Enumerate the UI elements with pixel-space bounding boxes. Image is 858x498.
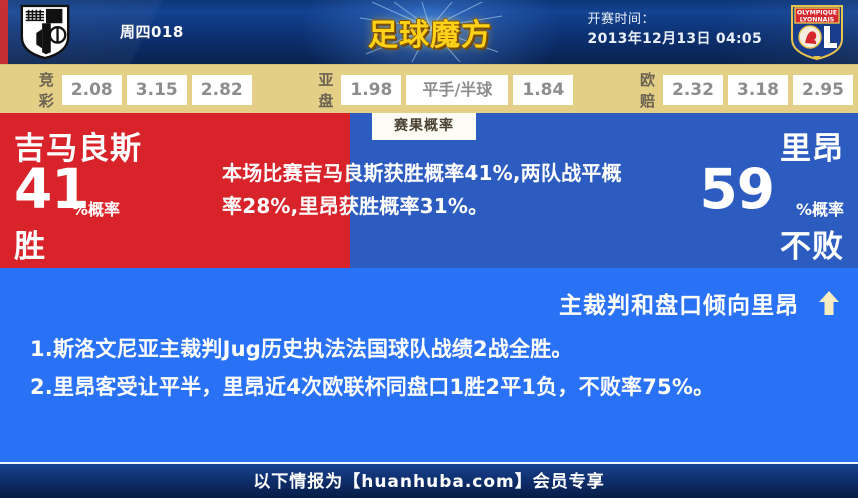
probability-tab-label: 赛果概率	[372, 113, 476, 140]
header-bar: 周四018 足球魔方 开赛时间： 2013年12月13日 04:05	[0, 0, 858, 64]
odds-group-jingcai: 竞彩 2.08 3.15 2.82	[39, 69, 257, 111]
analysis-section: 主裁判和盘口倾向里昂 1.斯洛文尼亚主裁判Jug历史执法法国球队战绩2战全胜。 …	[0, 272, 858, 462]
odds-label-yapan: 亚盘	[318, 69, 334, 111]
odds-cell-oupei-3[interactable]: 2.95	[793, 75, 853, 105]
kickoff-label: 开赛时间：	[588, 11, 762, 29]
analysis-headline-text: 主裁判和盘口倾向里昂	[559, 293, 799, 319]
odds-cell-yapan-handicap[interactable]: 平手/半球	[406, 75, 508, 105]
odds-label-oupei: 欧赔	[640, 69, 656, 111]
analysis-headline: 主裁判和盘口倾向里昂	[559, 286, 840, 322]
analysis-list: 1.斯洛文尼亚主裁判Jug历史执法法国球队战绩2战全胜。 2.里昂客受让平半，里…	[30, 330, 830, 406]
odds-cell-jingcai-1[interactable]: 2.08	[62, 75, 122, 105]
odds-cell-yapan-1[interactable]: 1.98	[341, 75, 401, 105]
svg-text:LYONNAIS: LYONNAIS	[800, 16, 834, 23]
infographic-root: 周四018 足球魔方 开赛时间： 2013年12月13日 04:05	[0, 0, 858, 498]
odds-cell-oupei-2[interactable]: 3.18	[728, 75, 788, 105]
brand-logo[interactable]: 足球魔方	[352, 2, 508, 62]
away-probability-unit: %概率	[796, 196, 844, 220]
footer-membership-note: 以下情报为【huanhuba.com】会员专享	[0, 464, 858, 498]
away-team-crest-icon: OLYMPIQUE LYONNAIS	[788, 3, 846, 61]
odds-bar: 竞彩 2.08 3.15 2.82 亚盘 1.98 平手/半球 1.84 欧赔 …	[0, 64, 858, 115]
away-team-name: 里昂	[780, 123, 844, 168]
analysis-item-2: 2.里昂客受让平半，里昂近4次欧联杯同盘口1胜2平1负，不败率75%。	[30, 368, 830, 406]
home-probability-unit: %概率	[72, 196, 120, 220]
brand-logo-text: 足球魔方	[352, 10, 508, 54]
odds-cell-jingcai-2[interactable]: 3.15	[127, 75, 187, 105]
odds-cell-jingcai-3[interactable]: 2.82	[192, 75, 252, 105]
odds-group-oupei: 欧赔 2.32 3.18 2.95	[622, 69, 858, 111]
odds-cell-oupei-1[interactable]: 2.32	[663, 75, 723, 105]
analysis-item-1: 1.斯洛文尼亚主裁判Jug历史执法法国球队战绩2战全胜。	[30, 330, 830, 368]
match-number: 周四018	[120, 21, 184, 42]
footer-bar: 以下情报为【huanhuba.com】会员专享	[0, 462, 858, 498]
probability-section: 吉马良斯 41 %概率 胜 里昂 59 %概率 不败 赛果概率 本场比赛吉马良斯…	[0, 113, 858, 268]
odds-cell-yapan-2[interactable]: 1.84	[513, 75, 573, 105]
away-probability-value: 59	[699, 161, 774, 217]
kickoff-value: 2013年12月13日 04:05	[588, 29, 762, 49]
kickoff-time-block: 开赛时间： 2013年12月13日 04:05	[588, 11, 762, 49]
trend-up-arrow-icon	[818, 290, 840, 322]
away-probability-result: 不败	[780, 221, 844, 266]
odds-group-yapan: 亚盘 1.98 平手/半球 1.84	[300, 69, 578, 111]
home-probability-result: 胜	[14, 221, 46, 266]
probability-description: 本场比赛吉马良斯获胜概率41%,两队战平概率28%,里昂获胜概率31%。	[222, 157, 622, 223]
odds-label-jingcai: 竞彩	[39, 69, 55, 111]
home-team-crest-icon	[18, 4, 72, 60]
